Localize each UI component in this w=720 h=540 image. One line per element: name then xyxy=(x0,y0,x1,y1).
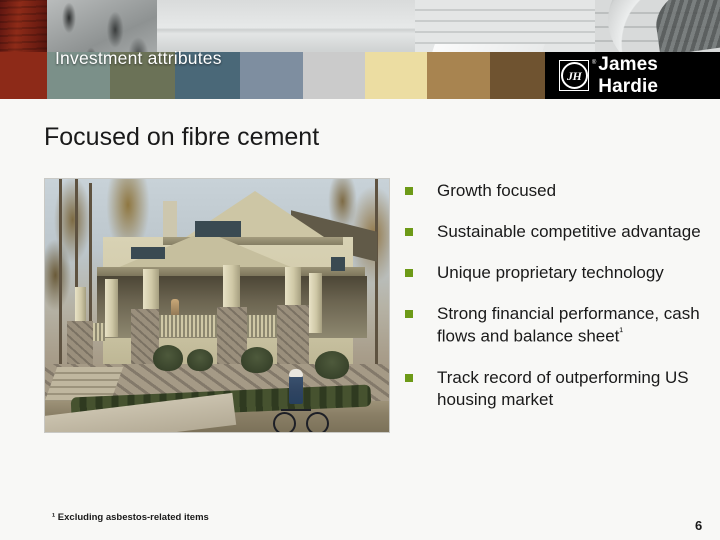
bullet-list: Growth focusedSustainable competitive ad… xyxy=(405,180,705,430)
bullet-square-icon xyxy=(405,187,413,195)
bullet-text: Strong financial performance, cash flows… xyxy=(437,303,705,348)
swatch-brown xyxy=(490,52,545,99)
bullet-text: Unique proprietary technology xyxy=(437,262,664,284)
bullet-text: Track record of outperforming US housing… xyxy=(437,367,705,411)
bullet-item: Unique proprietary technology xyxy=(405,262,705,284)
swatch-cream xyxy=(365,52,427,99)
bullet-text: Sustainable competitive advantage xyxy=(437,221,701,243)
bullet-item: Track record of outperforming US housing… xyxy=(405,367,705,411)
page-number: 6 xyxy=(695,518,702,533)
swatch-light-gray xyxy=(303,52,365,99)
swatch-brick-red xyxy=(0,52,47,99)
monogram-letters: JH xyxy=(567,70,581,82)
footnote-marker: ¹ xyxy=(619,326,623,338)
bullet-item: Strong financial performance, cash flows… xyxy=(405,303,705,348)
jh-monogram-icon: JH ® xyxy=(559,60,589,91)
registered-mark-icon: ® xyxy=(592,60,596,66)
bullet-square-icon xyxy=(405,228,413,236)
brand-logo: JH ® James Hardie xyxy=(545,52,720,99)
child-on-bike xyxy=(289,374,303,404)
slide-root: Investment attributes JH ® James Hardie … xyxy=(0,0,720,540)
bullet-square-icon xyxy=(405,269,413,277)
house-photo xyxy=(44,178,390,433)
bullet-text: Growth focused xyxy=(437,180,556,202)
brand-name: James Hardie xyxy=(598,54,720,98)
page-title: Focused on fibre cement xyxy=(44,123,319,152)
footnote: ¹ Excluding asbestos-related items xyxy=(52,512,209,523)
swatch-dusty-blue xyxy=(240,52,303,99)
bullet-square-icon xyxy=(405,310,413,318)
swatch-tan xyxy=(427,52,490,99)
bullet-square-icon xyxy=(405,374,413,382)
header-banner: Investment attributes JH ® James Hardie xyxy=(0,0,720,99)
bullet-item: Sustainable competitive advantage xyxy=(405,221,705,243)
bullet-item: Growth focused xyxy=(405,180,705,202)
banner-eyebrow-title: Investment attributes xyxy=(55,48,222,69)
